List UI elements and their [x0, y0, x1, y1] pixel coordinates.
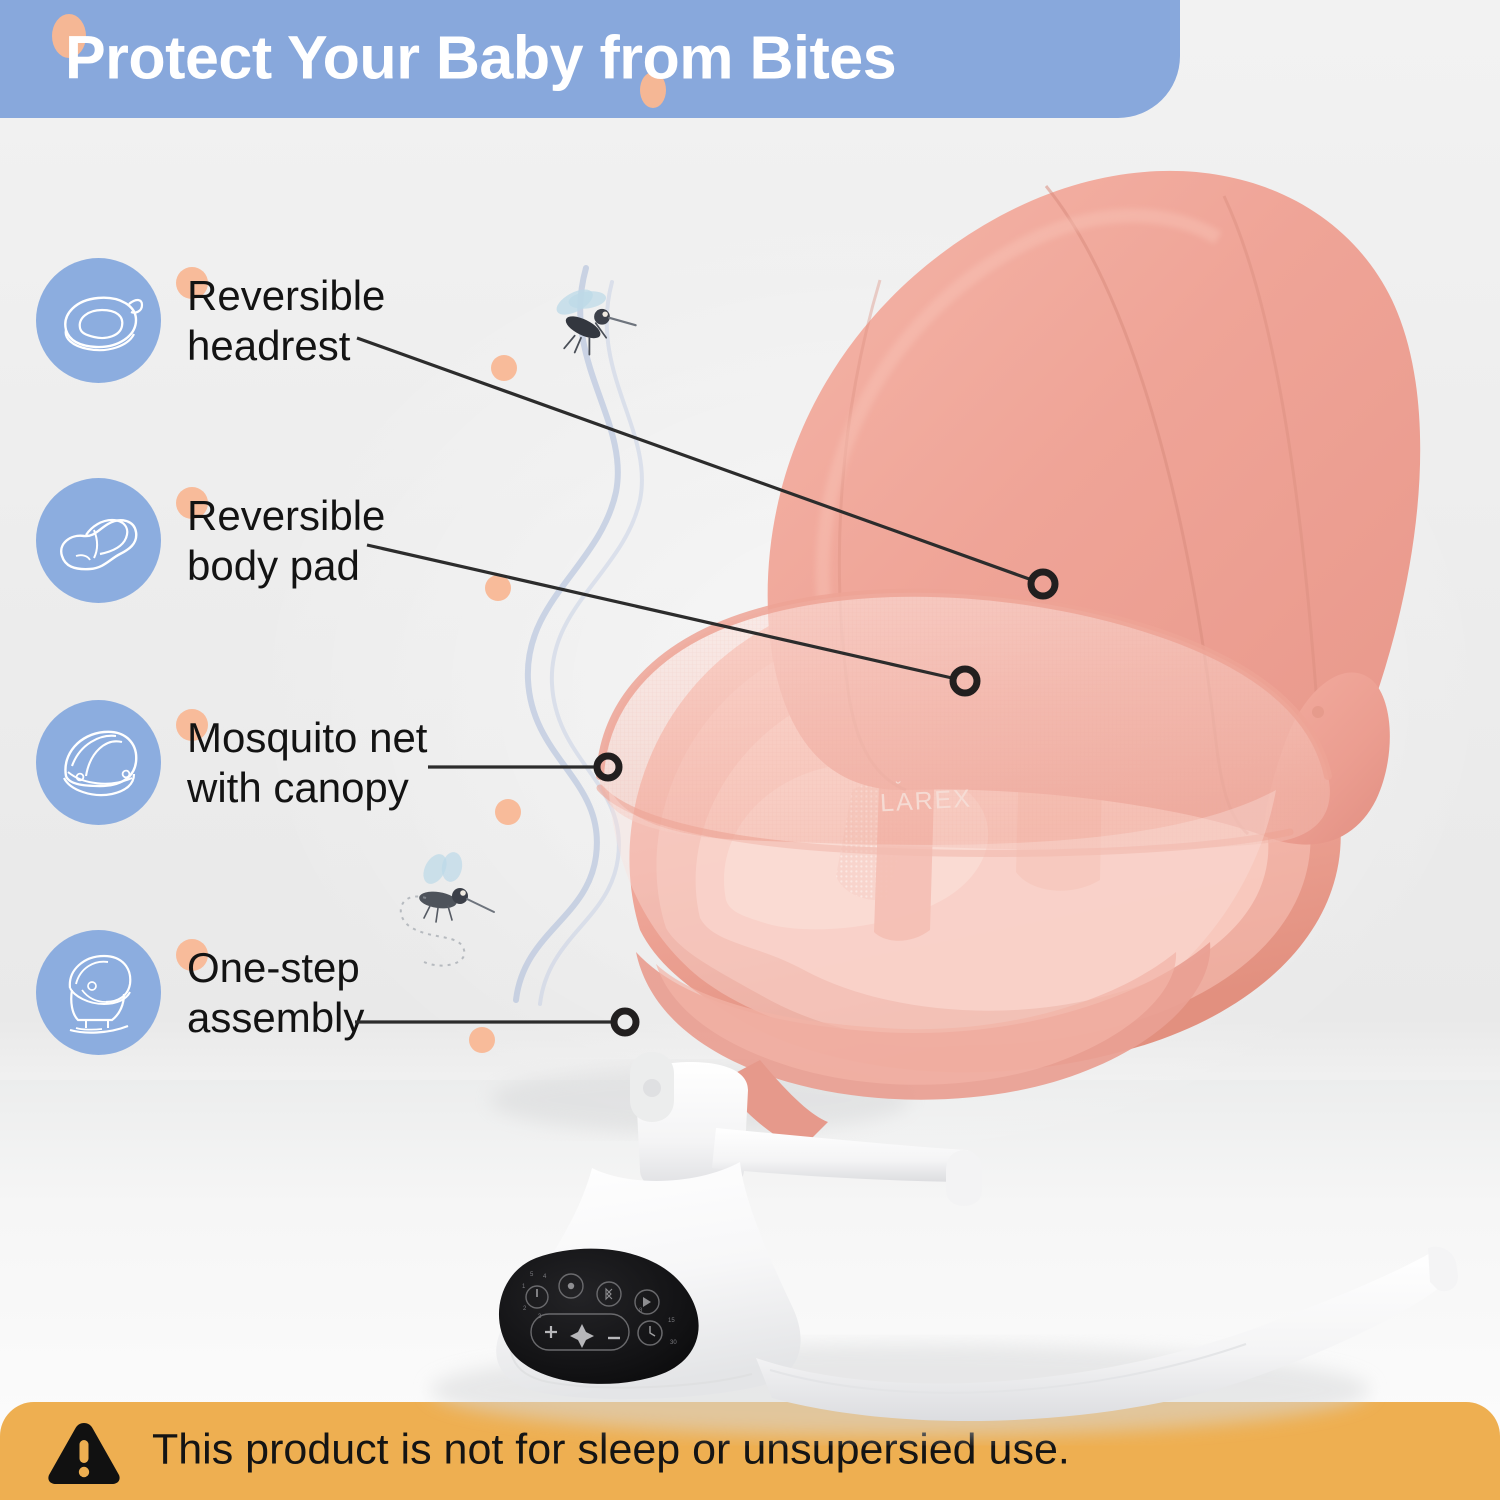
infographic-page: 54 12 3 815 30 ˘ LAREX [0, 0, 1500, 1500]
mosquito-decorations [0, 0, 1500, 1500]
